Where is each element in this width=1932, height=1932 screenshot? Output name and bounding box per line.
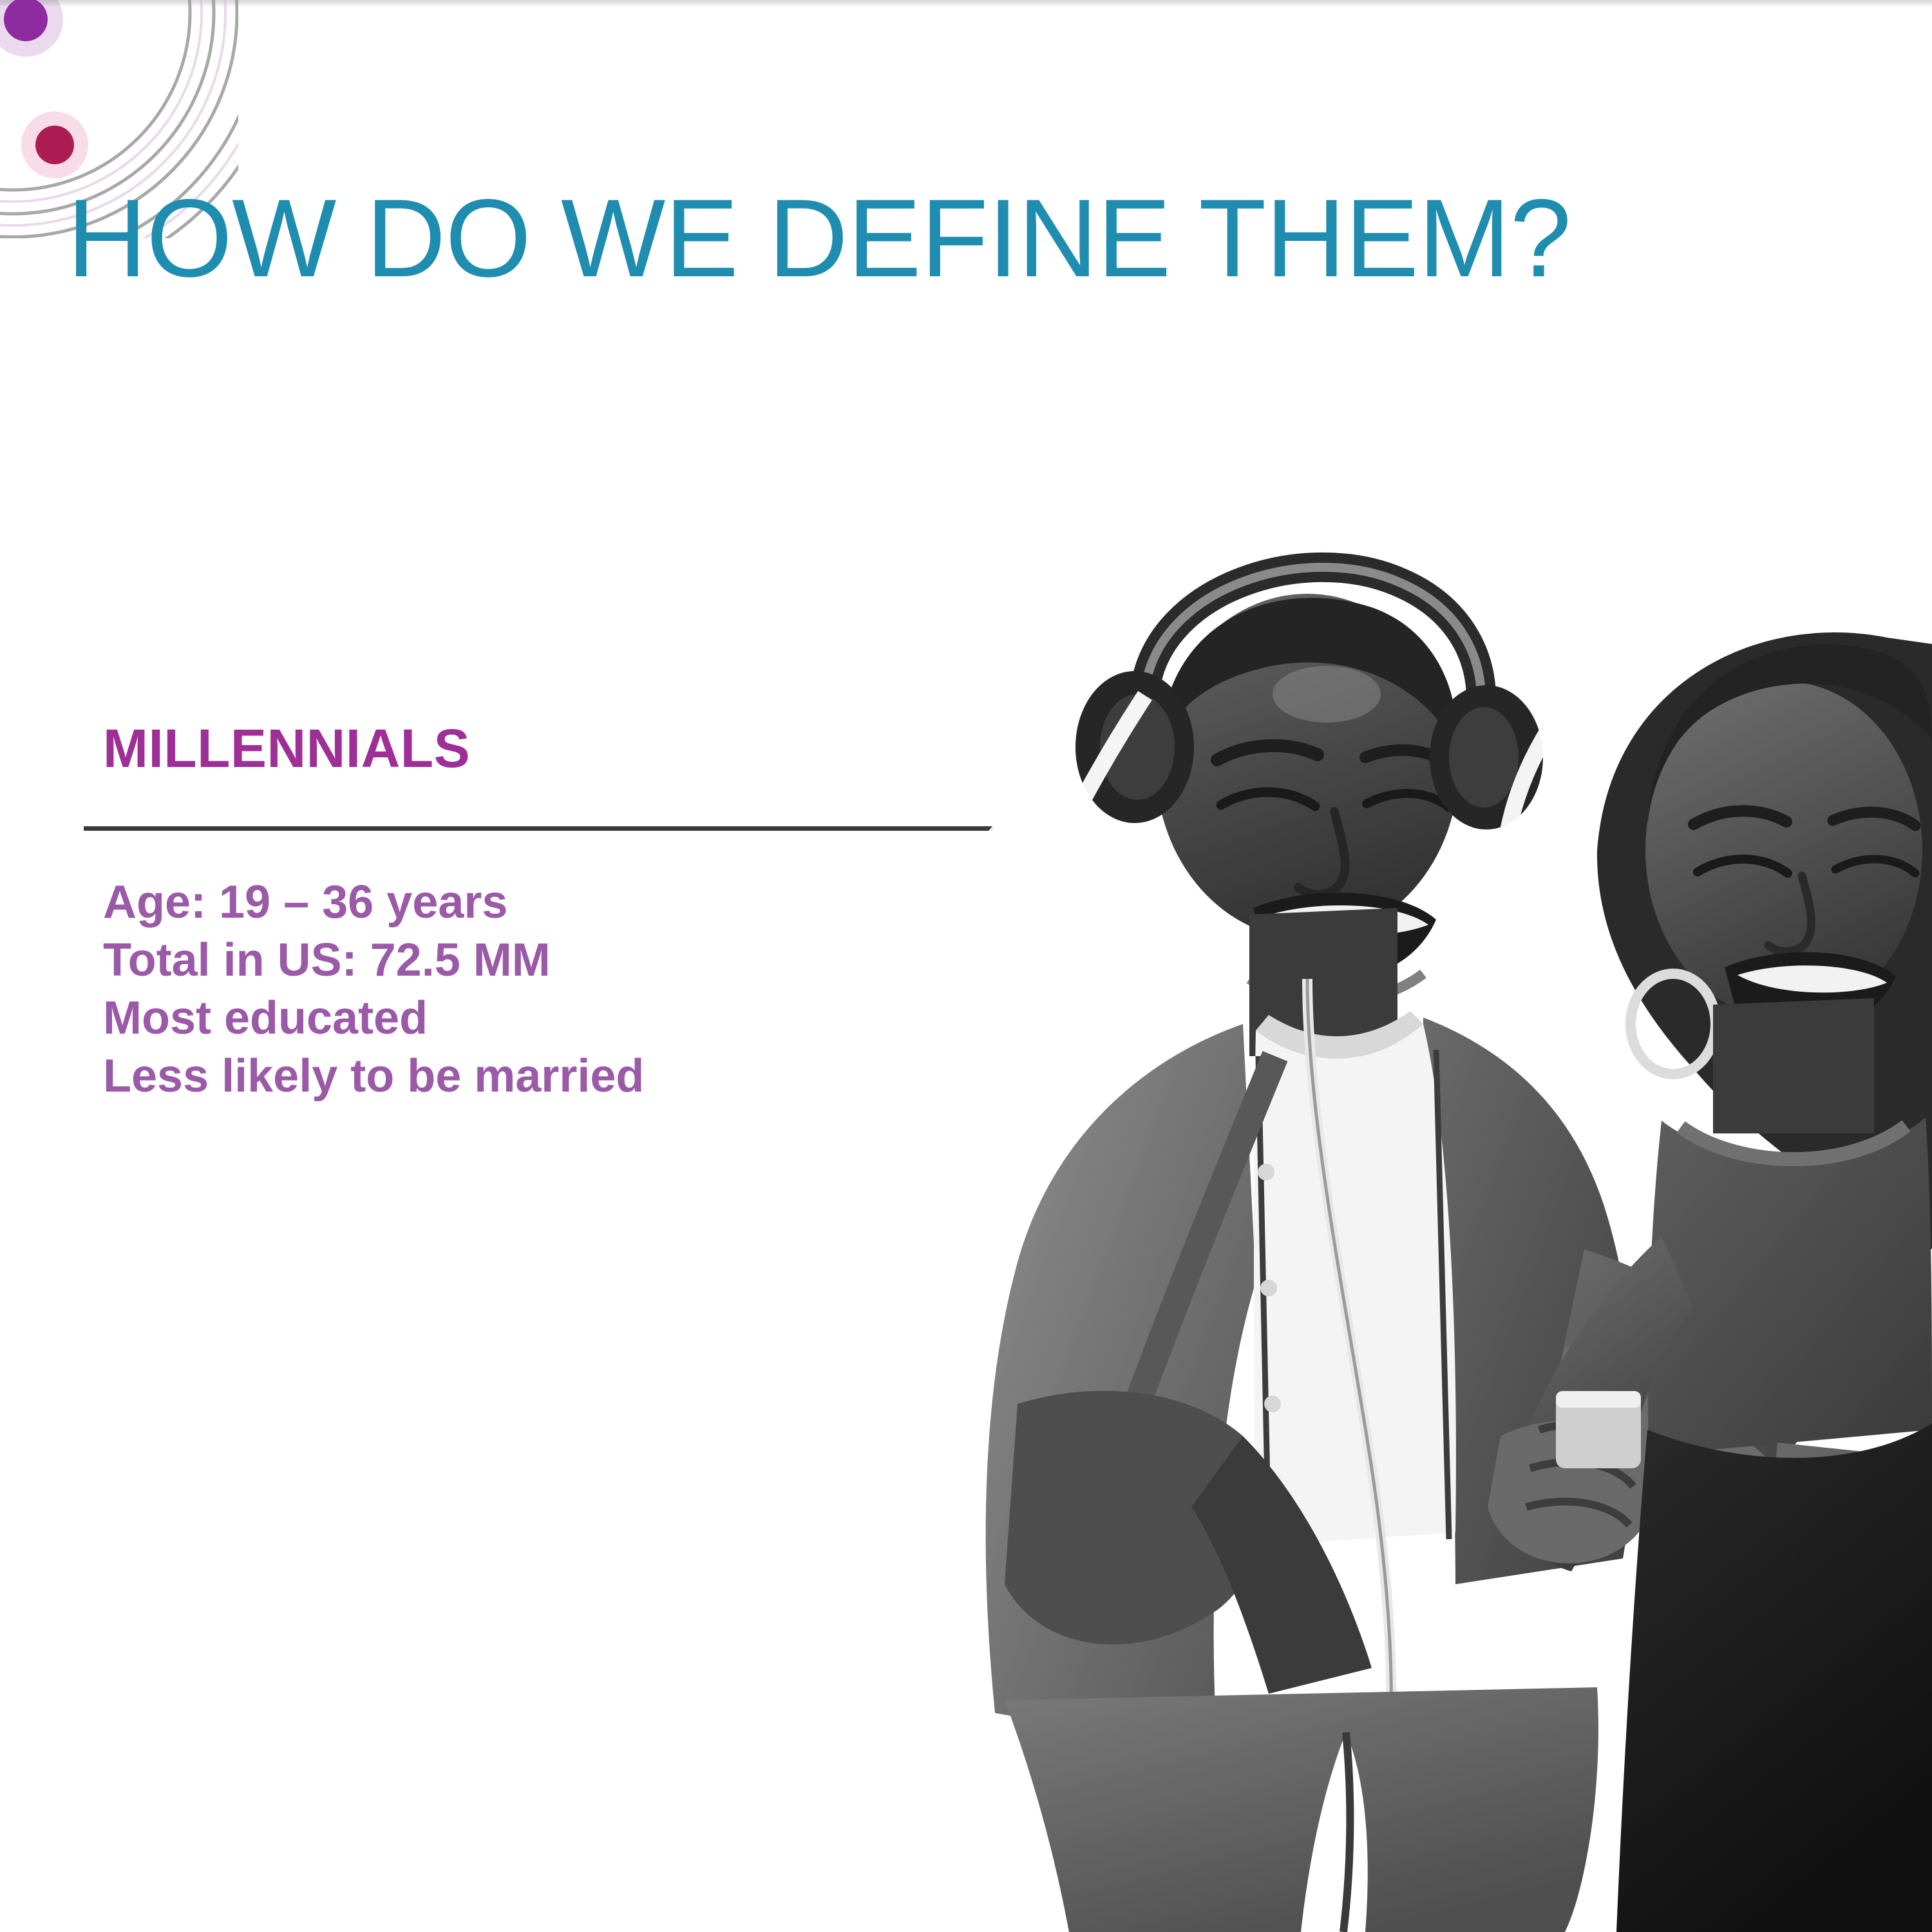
millennials-photo [857,489,1932,1932]
list-item: Age: 19 – 36 years [103,873,644,931]
list-item: Less likely to be married [103,1047,644,1105]
photo-graphic [857,489,1932,1932]
top-edge-strip [0,0,1932,6]
slide-canvas: HOW DO WE DEFINE THEM? MILLENNIALS Age: … [0,0,1932,1932]
fact-list: Age: 19 – 36 years Total in US: 72.5 MM … [103,873,644,1105]
list-item: Total in US: 72.5 MM [103,931,644,989]
crimson-dot-icon [35,126,74,164]
page-title: HOW DO WE DEFINE THEM? [67,183,1870,294]
list-item: Most educated [103,989,644,1047]
